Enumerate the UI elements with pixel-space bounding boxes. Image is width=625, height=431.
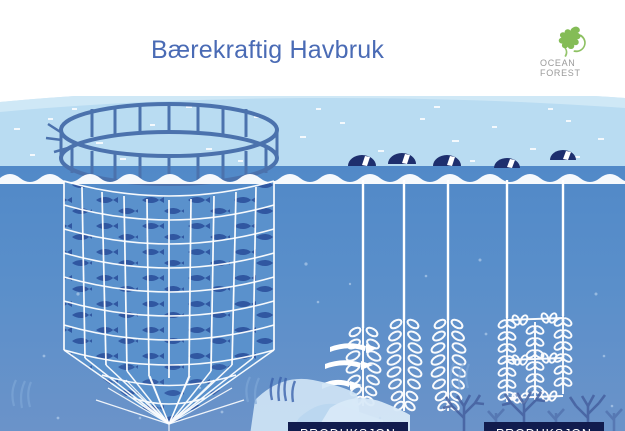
waterline-foam [0,174,625,184]
buoy [550,150,576,160]
buoy [388,153,416,164]
buoy [494,158,520,168]
infographic-slide: Bærekraftig Havbruk OCEAN FOREST [0,0,625,431]
label-blaskjell: PRODUKSJON AV BLÅSKJELL [484,422,621,431]
scene-artwork [0,88,625,431]
logo-line-2: FOREST [540,68,598,78]
logo-wordmark: OCEAN FOREST [540,58,598,78]
fish-cage-floating-ring [46,104,277,184]
sky-foam-flecks [14,106,604,162]
kelp-ropes [363,180,448,328]
mussel-rope-grid [497,312,573,404]
page-title: Bærekraftig Havbruk [0,36,625,65]
buoy [433,155,461,166]
kelp-frond [386,318,423,412]
mussel-section [494,150,576,404]
macroalgae-section [322,153,467,412]
label-makroalger: PRODUKSJON AV MAKROALGER [288,422,445,431]
ocean-forest-logo: OCEAN FOREST [538,26,600,82]
kelp-logo-icon [552,26,592,58]
buoy [348,155,376,166]
label-makroalger-line-1: PRODUKSJON [288,422,408,431]
buoy-group-mussel [494,150,576,168]
label-blaskjell-line-1: PRODUKSJON [484,422,604,431]
ocean-scene: HAVBRUK PRODUKSJON AV MAKROALGER PRODUKS… [0,88,625,431]
buoy-group-kelp [348,153,461,166]
logo-line-1: OCEAN [540,58,598,68]
slide-header: Bærekraftig Havbruk OCEAN FOREST [0,0,625,96]
net-cage [64,181,274,431]
